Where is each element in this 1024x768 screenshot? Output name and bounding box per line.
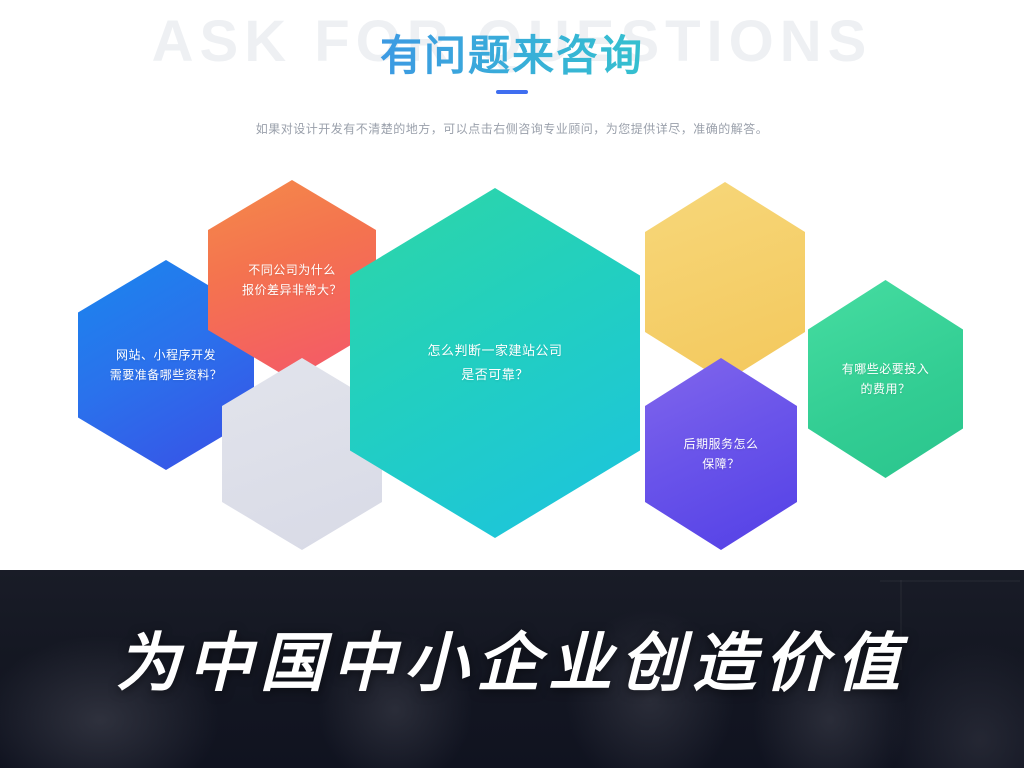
hexagon-line-1: 怎么判断一家建站公司 xyxy=(427,339,562,363)
section-header: ASK FOR QUESTIONS 有问题来咨询 如果对设计开发有不清楚的地方，… xyxy=(0,0,1024,160)
landing-page-section: ASK FOR QUESTIONS 有问题来咨询 如果对设计开发有不清楚的地方，… xyxy=(0,0,1024,768)
page-title: 有问题来咨询 xyxy=(0,22,1024,83)
hexagon-line-2: 是否可靠？ xyxy=(461,363,529,387)
hexagon-card-reliable-company[interactable]: 怎么判断一家建站公司 是否可靠？ xyxy=(350,188,640,538)
hexagon-grid: 网站、小程序开发 需要准备哪些资料？ 不同公司为什么 报价差异非常大？ 怎么判断… xyxy=(0,150,1024,550)
hexagon-line-2: 报价差异非常大？ xyxy=(242,280,342,300)
hexagon-line-1: 后期服务怎么 xyxy=(683,434,758,454)
hexagon-line-1: 网站、小程序开发 xyxy=(116,345,216,365)
hexagon-card-after-sales-service[interactable]: 后期服务怎么 保障？ xyxy=(645,358,797,550)
bottom-banner: 为中国中小企业创造价值 xyxy=(0,570,1024,768)
hexagon-line-2: 的费用？ xyxy=(860,379,910,399)
hexagon-line-2: 需要准备哪些资料？ xyxy=(110,365,223,385)
hexagon-line-1: 有哪些必要投入 xyxy=(842,359,930,379)
page-subtitle: 如果对设计开发有不清楚的地方，可以点击右侧咨询专业顾问，为您提供详尽，准确的解答… xyxy=(0,120,1024,137)
hexagon-card-decorative-yellow xyxy=(645,182,805,382)
hexagon-card-necessary-costs[interactable]: 有哪些必要投入 的费用？ xyxy=(808,280,963,478)
hexagon-line-1: 不同公司为什么 xyxy=(248,260,336,280)
banner-slogan: 为中国中小企业创造价值 xyxy=(0,612,1024,704)
hexagon-line-2: 保障？ xyxy=(702,454,740,474)
title-divider-dash xyxy=(496,90,528,94)
